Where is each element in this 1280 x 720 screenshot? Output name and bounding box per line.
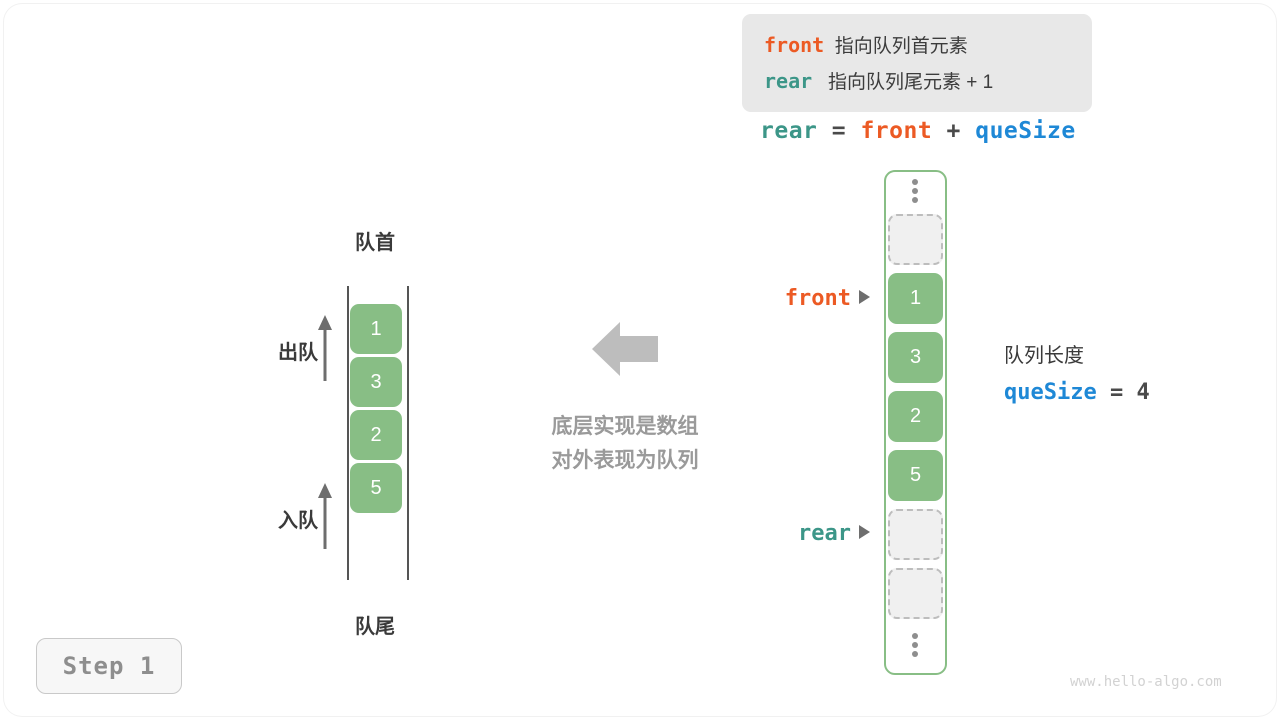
queue-rail-left: [347, 286, 349, 580]
formula-front: front: [860, 118, 932, 144]
legend-line-rear: rear 指向队列尾元素 + 1: [764, 64, 1072, 100]
quesize-expression: queSize = 4: [1004, 376, 1150, 410]
watermark: www.hello-algo.com: [1070, 674, 1222, 690]
queue-head-label: 队首: [300, 226, 450, 255]
pointer-triangle-icon: [859, 290, 870, 304]
legend-line-front: front 指向队列首元素: [764, 28, 1072, 64]
formula-eq: =: [817, 118, 860, 144]
queue-cell: 3: [350, 357, 402, 407]
legend-box: front 指向队列首元素 rear 指向队列尾元素 + 1: [742, 14, 1092, 112]
pointer-front-label: front: [785, 286, 851, 311]
array-ellipsis-top: [906, 179, 924, 203]
queue-cell: 2: [350, 410, 402, 460]
legend-text-rear: 指向队列尾元素 + 1: [828, 72, 993, 93]
queue-rail-right: [407, 286, 409, 580]
enqueue-arrow-icon: [315, 481, 335, 551]
queue-tail-label: 队尾: [300, 610, 450, 639]
enqueue-label: 入队: [248, 504, 318, 533]
pointer-rear-label: rear: [798, 521, 851, 546]
legend-keyword-rear: rear: [764, 69, 812, 93]
array-slot-filled: 3: [888, 332, 943, 383]
middle-caption: 底层实现是数组 对外表现为队列: [510, 410, 740, 478]
quesize-title: 队列长度: [1004, 340, 1150, 372]
quesize-block: 队列长度 queSize = 4: [1004, 340, 1150, 410]
quesize-eq: =: [1097, 380, 1137, 405]
middle-caption-line2: 对外表现为队列: [510, 444, 740, 478]
array-slot-filled: 5: [888, 450, 943, 501]
pointer-front: front: [680, 286, 870, 311]
array-slot-empty: [888, 509, 943, 560]
queue-cell: 5: [350, 463, 402, 513]
array-slot-filled: 1: [888, 273, 943, 324]
dequeue-arrow-icon: [315, 313, 335, 383]
array-slot-empty: [888, 214, 943, 265]
legend-text-front: 指向队列首元素: [835, 36, 968, 57]
step-badge: Step 1: [36, 638, 182, 694]
array-slot-empty: [888, 568, 943, 619]
diagram-canvas: front 指向队列首元素 rear 指向队列尾元素 + 1 rear = fr…: [0, 0, 1280, 720]
formula-rear-equals: rear = front + queSize: [760, 118, 1076, 144]
formula-plus: +: [932, 118, 975, 144]
dequeue-label: 出队: [248, 336, 318, 365]
pointer-triangle-icon: [859, 525, 870, 539]
formula-rear: rear: [760, 118, 817, 144]
legend-keyword-front: front: [764, 33, 824, 57]
array-ellipsis-bottom: [906, 633, 924, 657]
step-badge-label: Step 1: [63, 652, 156, 680]
pointer-rear: rear: [680, 521, 870, 546]
left-arrow-icon: [592, 318, 658, 385]
formula-quesize: queSize: [975, 118, 1075, 144]
array-slot-filled: 2: [888, 391, 943, 442]
quesize-value: 4: [1136, 380, 1149, 405]
queue-cell: 1: [350, 304, 402, 354]
middle-caption-line1: 底层实现是数组: [510, 410, 740, 444]
quesize-name: queSize: [1004, 380, 1097, 405]
